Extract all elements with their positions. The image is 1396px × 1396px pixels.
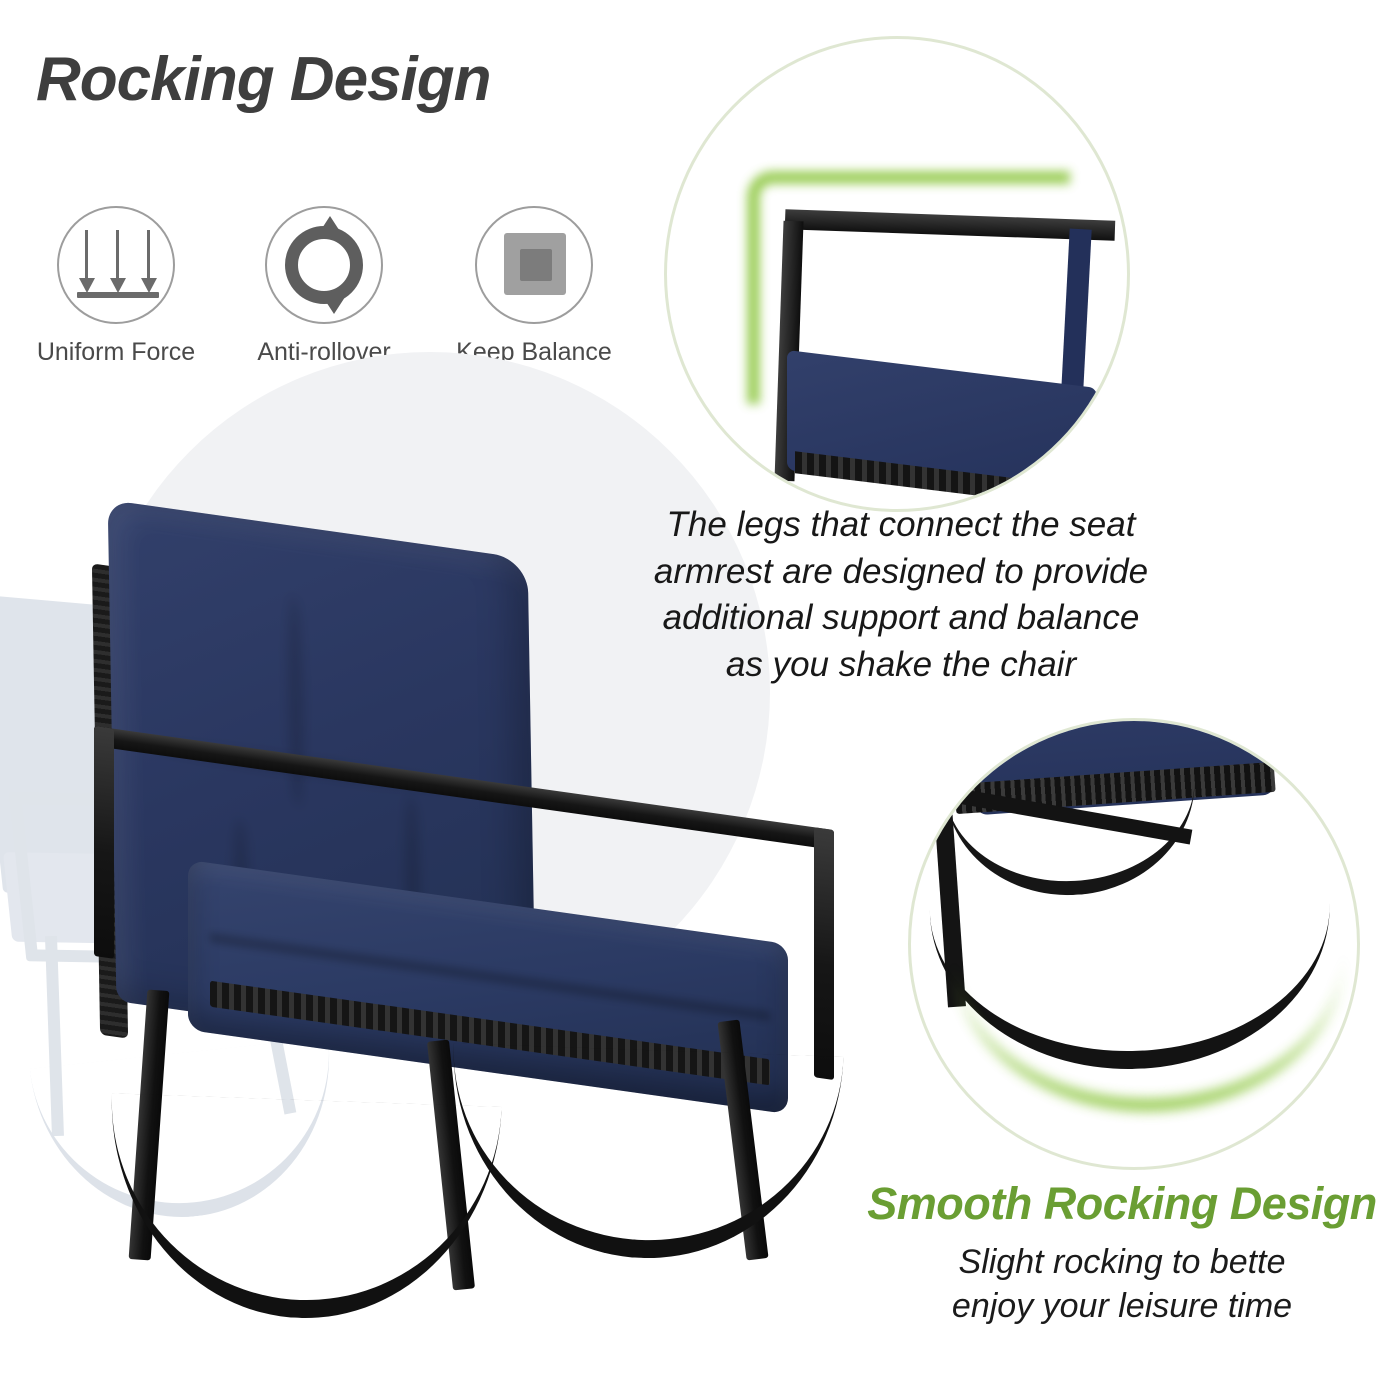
- rocker-detail-inset: [908, 718, 1360, 1170]
- description-line: The legs that connect the seat: [616, 502, 1186, 549]
- feature-anti-rollover: Anti-rollover: [226, 206, 422, 367]
- description-line: as you shake the chair: [616, 642, 1186, 689]
- rocker-runner: [446, 1043, 843, 1264]
- feature-label: Uniform Force: [18, 338, 214, 367]
- keep-balance-icon: [475, 206, 593, 324]
- rotation-arrowhead-top-icon: [317, 216, 343, 236]
- armrest-rear-post: [814, 827, 834, 1080]
- arrow-down-icon: [85, 230, 88, 280]
- smooth-rocking-headline: Smooth Rocking Design: [846, 1178, 1396, 1230]
- feature-keep-balance: Keep Balance: [436, 206, 632, 367]
- smooth-rocking-subtext: Slight rocking to bette enjoy your leisu…: [846, 1240, 1396, 1328]
- rotation-arrowhead-bottom-icon: [321, 294, 347, 314]
- subtext-line: Slight rocking to bette: [846, 1240, 1396, 1284]
- feature-uniform-force: Uniform Force: [18, 206, 214, 367]
- description-line: additional support and balance: [616, 595, 1186, 642]
- inner-square-icon: [520, 249, 552, 281]
- page-title: Rocking Design: [36, 44, 491, 115]
- description-text: The legs that connect the seat armrest a…: [616, 502, 1186, 688]
- rocker-runner: [104, 1093, 501, 1324]
- smooth-rocking-block: Smooth Rocking Design Slight rocking to …: [846, 1178, 1396, 1328]
- armrest-detail-inset: [664, 36, 1130, 512]
- nested-squares-icon: [504, 233, 566, 295]
- downward-arrows-icon: [59, 208, 173, 322]
- arrow-down-icon: [116, 230, 119, 280]
- armrest-front-post: [94, 726, 114, 959]
- support-bar-icon: [77, 292, 159, 298]
- uniform-force-icon: [57, 206, 175, 324]
- rotation-ring-icon: [285, 226, 363, 304]
- infographic-page: Rocking Design Uniform Force Anti-rollov…: [0, 0, 1396, 1396]
- description-line: armrest are designed to provide: [616, 549, 1186, 596]
- subtext-line: enjoy your leisure time: [846, 1284, 1396, 1328]
- arrow-down-icon: [147, 230, 150, 280]
- motion-glow-accent: [954, 936, 1347, 1115]
- anti-rollover-icon: [265, 206, 383, 324]
